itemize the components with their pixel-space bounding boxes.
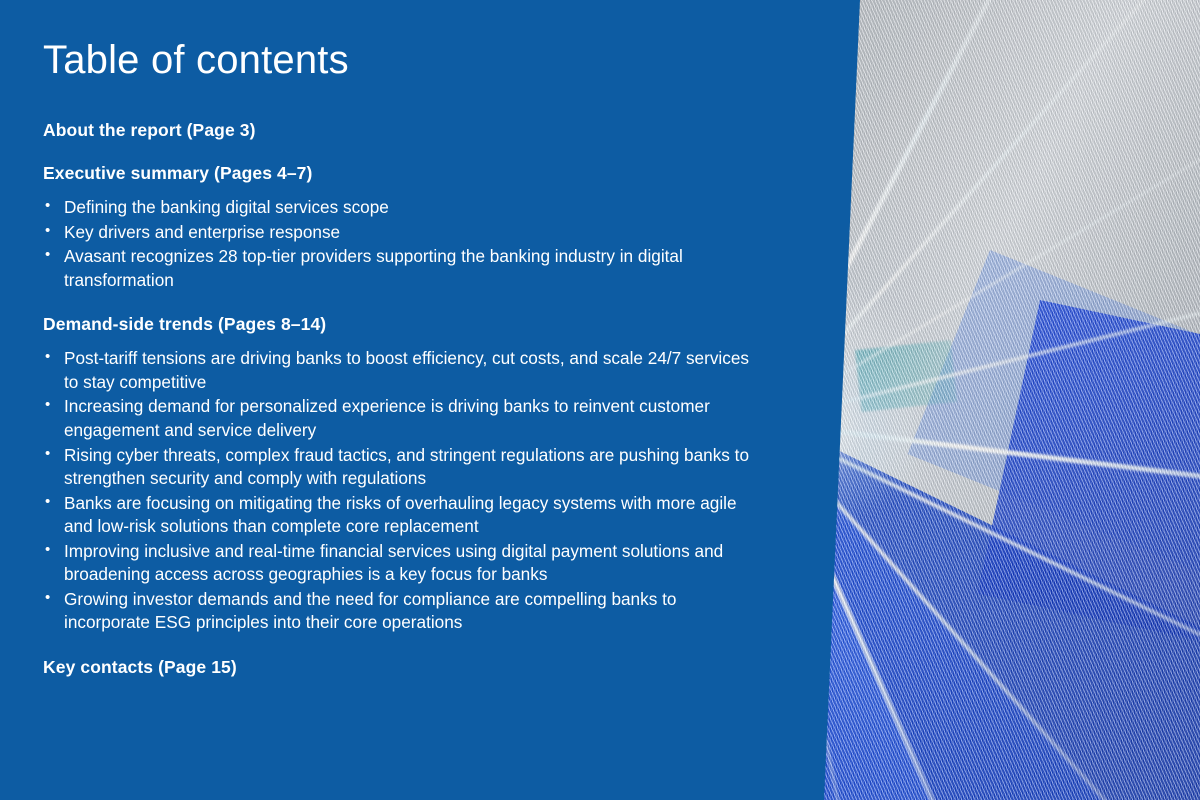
list-item: Improving inclusive and real-time financ… xyxy=(43,540,763,587)
list-item: Increasing demand for personalized exper… xyxy=(43,395,763,442)
list-item: Growing investor demands and the need fo… xyxy=(43,588,763,635)
toc-section-heading-executive-summary[interactable]: Executive summary (Pages 4–7) xyxy=(43,163,763,184)
list-item: Avasant recognizes 28 top-tier providers… xyxy=(43,245,763,292)
list-item: Post-tariff tensions are driving banks t… xyxy=(43,347,763,394)
decorative-artwork xyxy=(740,0,1200,800)
toc-section: Key contacts (Page 15) xyxy=(43,657,763,678)
toc-section-heading-demand-side-trends[interactable]: Demand-side trends (Pages 8–14) xyxy=(43,314,763,335)
list-item: Key drivers and enterprise response xyxy=(43,221,763,245)
toc-bullet-list-executive-summary: Defining the banking digital services sc… xyxy=(43,196,763,292)
toc-section-heading-key-contacts[interactable]: Key contacts (Page 15) xyxy=(43,657,763,678)
toc-section-heading-about-the-report[interactable]: About the report (Page 3) xyxy=(43,120,763,141)
list-item: Banks are focusing on mitigating the ris… xyxy=(43,492,763,539)
toc-section: Executive summary (Pages 4–7) Defining t… xyxy=(43,163,763,292)
table-of-contents: About the report (Page 3) Executive summ… xyxy=(43,120,763,678)
toc-bullet-list-demand-side-trends: Post-tariff tensions are driving banks t… xyxy=(43,347,763,635)
list-item: Rising cyber threats, complex fraud tact… xyxy=(43,444,763,491)
list-item: Defining the banking digital services sc… xyxy=(43,196,763,220)
slide-root: Table of contents About the report (Page… xyxy=(0,0,1200,800)
toc-section: About the report (Page 3) xyxy=(43,120,763,141)
slide-content: Table of contents About the report (Page… xyxy=(43,0,763,800)
page-title: Table of contents xyxy=(43,0,763,82)
toc-section: Demand-side trends (Pages 8–14) Post-tar… xyxy=(43,314,763,635)
